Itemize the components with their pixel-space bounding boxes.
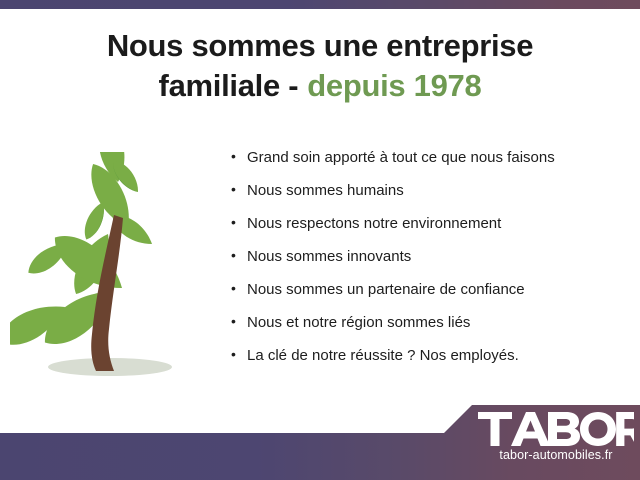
headline-line-1: Nous sommes une entreprise bbox=[107, 28, 533, 63]
values-list: Grand soin apporté à tout ce que nous fa… bbox=[228, 148, 628, 379]
headline-accent: depuis 1978 bbox=[307, 68, 481, 103]
list-item: Nous respectons notre environnement bbox=[228, 214, 628, 233]
list-item: Grand soin apporté à tout ce que nous fa… bbox=[228, 148, 628, 167]
tree-icon bbox=[10, 152, 215, 392]
tree-illustration bbox=[10, 152, 215, 392]
list-item: Nous sommes humains bbox=[228, 181, 628, 200]
brand-url: tabor-automobiles.fr bbox=[478, 448, 634, 462]
brand-logo[interactable]: tabor-automobiles.fr bbox=[478, 412, 634, 470]
top-brand-bar bbox=[0, 0, 640, 9]
headline-line-2-main: familiale - bbox=[159, 68, 299, 103]
tabor-wordmark-icon bbox=[478, 412, 634, 446]
page-title: Nous sommes une entreprise familiale -de… bbox=[0, 26, 640, 106]
list-item: Nous sommes un partenaire de confiance bbox=[228, 280, 628, 299]
slide-canvas: Nous sommes une entreprise familiale -de… bbox=[0, 0, 640, 480]
headline-line-2: familiale -depuis 1978 bbox=[0, 66, 640, 106]
list-item: Nous sommes innovants bbox=[228, 247, 628, 266]
list-item: La clé de notre réussite ? Nos employés. bbox=[228, 346, 628, 365]
list-item: Nous et notre région sommes liés bbox=[228, 313, 628, 332]
